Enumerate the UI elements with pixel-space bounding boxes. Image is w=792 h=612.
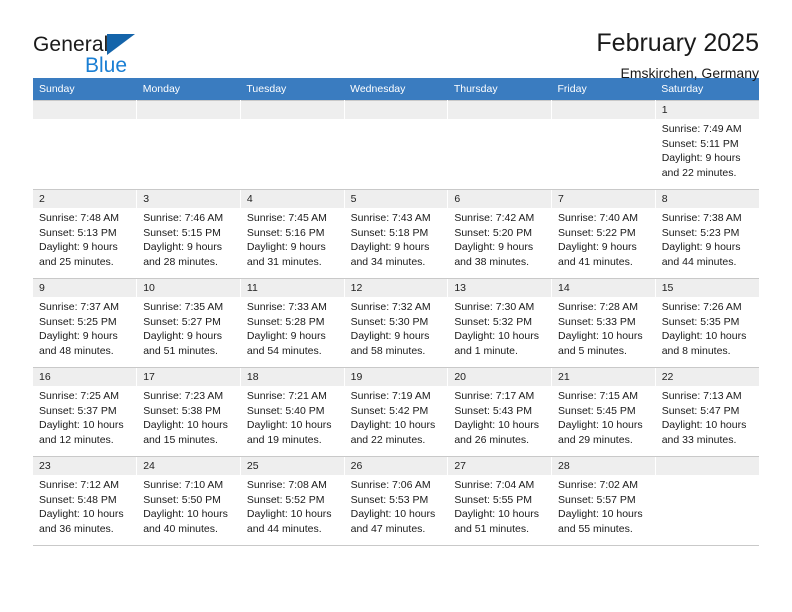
day-sun-details: Sunrise: 7:43 AMSunset: 5:18 PMDaylight:… <box>345 208 448 269</box>
detail-daylight1: Daylight: 10 hours <box>662 329 754 344</box>
calendar-week-row: 2Sunrise: 7:48 AMSunset: 5:13 PMDaylight… <box>33 190 759 279</box>
detail-daylight2: and 22 minutes. <box>662 166 754 181</box>
day-cell-inner <box>33 101 136 189</box>
detail-sunrise: Sunrise: 7:46 AM <box>143 211 235 226</box>
detail-daylight2: and 58 minutes. <box>351 344 443 359</box>
detail-daylight2: and 26 minutes. <box>454 433 546 448</box>
detail-sunset: Sunset: 5:57 PM <box>558 493 650 508</box>
calendar-day-cell[interactable]: 10Sunrise: 7:35 AMSunset: 5:27 PMDayligh… <box>137 279 241 368</box>
calendar-day-cell[interactable]: 27Sunrise: 7:04 AMSunset: 5:55 PMDayligh… <box>448 457 552 546</box>
detail-daylight2: and 33 minutes. <box>662 433 754 448</box>
day-number: 5 <box>345 190 448 208</box>
detail-sunrise: Sunrise: 7:15 AM <box>558 389 650 404</box>
detail-sunrise: Sunrise: 7:08 AM <box>247 478 339 493</box>
detail-daylight2: and 5 minutes. <box>558 344 650 359</box>
day-number <box>241 101 344 119</box>
detail-daylight1: Daylight: 9 hours <box>39 240 131 255</box>
day-number <box>448 101 551 119</box>
detail-daylight2: and 12 minutes. <box>39 433 131 448</box>
detail-daylight2: and 36 minutes. <box>39 522 131 537</box>
calendar-cell-empty <box>552 101 656 190</box>
day-sun-details: Sunrise: 7:30 AMSunset: 5:32 PMDaylight:… <box>448 297 551 358</box>
day-cell-inner: 8Sunrise: 7:38 AMSunset: 5:23 PMDaylight… <box>656 190 759 278</box>
detail-daylight2: and 40 minutes. <box>143 522 235 537</box>
detail-sunrise: Sunrise: 7:28 AM <box>558 300 650 315</box>
detail-daylight2: and 31 minutes. <box>247 255 339 270</box>
detail-sunset: Sunset: 5:43 PM <box>454 404 546 419</box>
calendar-day-cell[interactable]: 13Sunrise: 7:30 AMSunset: 5:32 PMDayligh… <box>448 279 552 368</box>
day-sun-details: Sunrise: 7:35 AMSunset: 5:27 PMDaylight:… <box>137 297 240 358</box>
day-sun-details: Sunrise: 7:10 AMSunset: 5:50 PMDaylight:… <box>137 475 240 536</box>
detail-sunrise: Sunrise: 7:37 AM <box>39 300 131 315</box>
day-cell-inner: 20Sunrise: 7:17 AMSunset: 5:43 PMDayligh… <box>448 368 551 456</box>
detail-sunrise: Sunrise: 7:32 AM <box>351 300 443 315</box>
day-cell-inner: 5Sunrise: 7:43 AMSunset: 5:18 PMDaylight… <box>345 190 448 278</box>
detail-daylight2: and 47 minutes. <box>351 522 443 537</box>
day-cell-inner <box>241 101 344 189</box>
day-sun-details: Sunrise: 7:19 AMSunset: 5:42 PMDaylight:… <box>345 386 448 447</box>
day-number: 22 <box>656 368 759 386</box>
calendar-day-cell[interactable]: 9Sunrise: 7:37 AMSunset: 5:25 PMDaylight… <box>33 279 137 368</box>
detail-daylight2: and 15 minutes. <box>143 433 235 448</box>
detail-sunrise: Sunrise: 7:38 AM <box>662 211 754 226</box>
calendar-day-cell[interactable]: 18Sunrise: 7:21 AMSunset: 5:40 PMDayligh… <box>240 368 344 457</box>
day-cell-inner <box>137 101 240 189</box>
day-number: 17 <box>137 368 240 386</box>
detail-sunrise: Sunrise: 7:17 AM <box>454 389 546 404</box>
day-sun-details: Sunrise: 7:37 AMSunset: 5:25 PMDaylight:… <box>33 297 136 358</box>
detail-sunrise: Sunrise: 7:30 AM <box>454 300 546 315</box>
calendar-day-cell[interactable]: 22Sunrise: 7:13 AMSunset: 5:47 PMDayligh… <box>655 368 759 457</box>
detail-daylight1: Daylight: 10 hours <box>558 329 650 344</box>
calendar-day-cell[interactable]: 12Sunrise: 7:32 AMSunset: 5:30 PMDayligh… <box>344 279 448 368</box>
detail-sunrise: Sunrise: 7:23 AM <box>143 389 235 404</box>
detail-sunset: Sunset: 5:45 PM <box>558 404 650 419</box>
day-number <box>345 101 448 119</box>
detail-sunset: Sunset: 5:28 PM <box>247 315 339 330</box>
detail-sunrise: Sunrise: 7:21 AM <box>247 389 339 404</box>
calendar-week-row: 23Sunrise: 7:12 AMSunset: 5:48 PMDayligh… <box>33 457 759 546</box>
day-number: 7 <box>552 190 655 208</box>
detail-sunrise: Sunrise: 7:33 AM <box>247 300 339 315</box>
detail-sunset: Sunset: 5:30 PM <box>351 315 443 330</box>
day-sun-details: Sunrise: 7:06 AMSunset: 5:53 PMDaylight:… <box>345 475 448 536</box>
calendar-day-cell[interactable]: 26Sunrise: 7:06 AMSunset: 5:53 PMDayligh… <box>344 457 448 546</box>
calendar-cell-empty <box>655 457 759 546</box>
detail-sunset: Sunset: 5:27 PM <box>143 315 235 330</box>
detail-sunrise: Sunrise: 7:42 AM <box>454 211 546 226</box>
detail-daylight1: Daylight: 9 hours <box>662 240 754 255</box>
calendar-day-cell[interactable]: 2Sunrise: 7:48 AMSunset: 5:13 PMDaylight… <box>33 190 137 279</box>
detail-daylight1: Daylight: 9 hours <box>247 329 339 344</box>
detail-sunset: Sunset: 5:35 PM <box>662 315 754 330</box>
day-cell-inner: 22Sunrise: 7:13 AMSunset: 5:47 PMDayligh… <box>656 368 759 456</box>
day-cell-inner: 25Sunrise: 7:08 AMSunset: 5:52 PMDayligh… <box>241 457 344 545</box>
day-sun-details: Sunrise: 7:23 AMSunset: 5:38 PMDaylight:… <box>137 386 240 447</box>
detail-sunrise: Sunrise: 7:43 AM <box>351 211 443 226</box>
weekday-header-monday: Monday <box>137 78 241 101</box>
calendar-day-cell[interactable]: 1Sunrise: 7:49 AMSunset: 5:11 PMDaylight… <box>655 101 759 190</box>
day-cell-inner: 16Sunrise: 7:25 AMSunset: 5:37 PMDayligh… <box>33 368 136 456</box>
detail-sunrise: Sunrise: 7:19 AM <box>351 389 443 404</box>
detail-daylight1: Daylight: 10 hours <box>558 507 650 522</box>
detail-sunrise: Sunrise: 7:04 AM <box>454 478 546 493</box>
detail-sunset: Sunset: 5:33 PM <box>558 315 650 330</box>
day-number: 24 <box>137 457 240 475</box>
calendar-day-cell[interactable]: 24Sunrise: 7:10 AMSunset: 5:50 PMDayligh… <box>137 457 241 546</box>
detail-sunset: Sunset: 5:48 PM <box>39 493 131 508</box>
day-sun-details: Sunrise: 7:13 AMSunset: 5:47 PMDaylight:… <box>656 386 759 447</box>
day-cell-inner: 21Sunrise: 7:15 AMSunset: 5:45 PMDayligh… <box>552 368 655 456</box>
detail-daylight2: and 19 minutes. <box>247 433 339 448</box>
page-header: General Blue February 2025 Emskirchen, G… <box>33 0 759 72</box>
calendar-week-row: 16Sunrise: 7:25 AMSunset: 5:37 PMDayligh… <box>33 368 759 457</box>
day-cell-inner <box>656 457 759 545</box>
detail-daylight2: and 1 minute. <box>454 344 546 359</box>
calendar-cell-empty <box>33 101 137 190</box>
day-number: 20 <box>448 368 551 386</box>
day-number: 16 <box>33 368 136 386</box>
day-number: 12 <box>345 279 448 297</box>
brand-name-general: General <box>33 35 108 55</box>
detail-sunset: Sunset: 5:22 PM <box>558 226 650 241</box>
detail-sunrise: Sunrise: 7:40 AM <box>558 211 650 226</box>
detail-sunrise: Sunrise: 7:02 AM <box>558 478 650 493</box>
day-number <box>137 101 240 119</box>
day-sun-details: Sunrise: 7:45 AMSunset: 5:16 PMDaylight:… <box>241 208 344 269</box>
calendar-cell-empty <box>137 101 241 190</box>
detail-daylight2: and 28 minutes. <box>143 255 235 270</box>
detail-daylight1: Daylight: 9 hours <box>247 240 339 255</box>
calendar-week-row: 1Sunrise: 7:49 AMSunset: 5:11 PMDaylight… <box>33 101 759 190</box>
detail-daylight1: Daylight: 10 hours <box>454 329 546 344</box>
detail-daylight1: Daylight: 10 hours <box>454 418 546 433</box>
day-sun-details: Sunrise: 7:40 AMSunset: 5:22 PMDaylight:… <box>552 208 655 269</box>
day-number: 13 <box>448 279 551 297</box>
calendar-cell-empty <box>240 101 344 190</box>
day-number: 11 <box>241 279 344 297</box>
day-number: 14 <box>552 279 655 297</box>
detail-daylight2: and 48 minutes. <box>39 344 131 359</box>
detail-daylight1: Daylight: 9 hours <box>454 240 546 255</box>
day-sun-details: Sunrise: 7:42 AMSunset: 5:20 PMDaylight:… <box>448 208 551 269</box>
day-sun-details: Sunrise: 7:33 AMSunset: 5:28 PMDaylight:… <box>241 297 344 358</box>
day-sun-details: Sunrise: 7:32 AMSunset: 5:30 PMDaylight:… <box>345 297 448 358</box>
detail-daylight1: Daylight: 9 hours <box>351 240 443 255</box>
detail-sunset: Sunset: 5:25 PM <box>39 315 131 330</box>
day-sun-details: Sunrise: 7:49 AMSunset: 5:11 PMDaylight:… <box>656 119 759 180</box>
detail-sunset: Sunset: 5:55 PM <box>454 493 546 508</box>
calendar-table: SundayMondayTuesdayWednesdayThursdayFrid… <box>33 78 759 546</box>
day-cell-inner: 3Sunrise: 7:46 AMSunset: 5:15 PMDaylight… <box>137 190 240 278</box>
day-number <box>33 101 136 119</box>
day-number: 10 <box>137 279 240 297</box>
day-number: 1 <box>656 101 759 119</box>
detail-sunrise: Sunrise: 7:25 AM <box>39 389 131 404</box>
detail-sunset: Sunset: 5:42 PM <box>351 404 443 419</box>
calendar-day-cell[interactable]: 11Sunrise: 7:33 AMSunset: 5:28 PMDayligh… <box>240 279 344 368</box>
day-number <box>552 101 655 119</box>
day-number: 27 <box>448 457 551 475</box>
triangle-icon <box>107 34 135 55</box>
day-sun-details: Sunrise: 7:04 AMSunset: 5:55 PMDaylight:… <box>448 475 551 536</box>
day-sun-details: Sunrise: 7:38 AMSunset: 5:23 PMDaylight:… <box>656 208 759 269</box>
day-cell-inner: 4Sunrise: 7:45 AMSunset: 5:16 PMDaylight… <box>241 190 344 278</box>
detail-daylight1: Daylight: 10 hours <box>247 507 339 522</box>
day-number: 23 <box>33 457 136 475</box>
detail-sunset: Sunset: 5:20 PM <box>454 226 546 241</box>
calendar-page: General Blue February 2025 Emskirchen, G… <box>0 0 792 612</box>
detail-sunrise: Sunrise: 7:48 AM <box>39 211 131 226</box>
detail-daylight1: Daylight: 9 hours <box>558 240 650 255</box>
day-cell-inner: 12Sunrise: 7:32 AMSunset: 5:30 PMDayligh… <box>345 279 448 367</box>
day-cell-inner: 7Sunrise: 7:40 AMSunset: 5:22 PMDaylight… <box>552 190 655 278</box>
detail-sunset: Sunset: 5:53 PM <box>351 493 443 508</box>
detail-daylight1: Daylight: 10 hours <box>558 418 650 433</box>
page-title: February 2025 <box>596 28 759 58</box>
calendar-day-cell[interactable]: 20Sunrise: 7:17 AMSunset: 5:43 PMDayligh… <box>448 368 552 457</box>
detail-sunset: Sunset: 5:40 PM <box>247 404 339 419</box>
detail-daylight1: Daylight: 10 hours <box>39 507 131 522</box>
day-sun-details: Sunrise: 7:46 AMSunset: 5:15 PMDaylight:… <box>137 208 240 269</box>
day-cell-inner: 24Sunrise: 7:10 AMSunset: 5:50 PMDayligh… <box>137 457 240 545</box>
day-number: 25 <box>241 457 344 475</box>
detail-daylight1: Daylight: 9 hours <box>662 151 754 166</box>
detail-daylight2: and 51 minutes. <box>143 344 235 359</box>
detail-sunrise: Sunrise: 7:26 AM <box>662 300 754 315</box>
detail-daylight2: and 44 minutes. <box>662 255 754 270</box>
detail-daylight2: and 51 minutes. <box>454 522 546 537</box>
calendar-day-cell[interactable]: 16Sunrise: 7:25 AMSunset: 5:37 PMDayligh… <box>33 368 137 457</box>
calendar-day-cell[interactable]: 6Sunrise: 7:42 AMSunset: 5:20 PMDaylight… <box>448 190 552 279</box>
detail-sunset: Sunset: 5:23 PM <box>662 226 754 241</box>
calendar-day-cell[interactable]: 25Sunrise: 7:08 AMSunset: 5:52 PMDayligh… <box>240 457 344 546</box>
detail-daylight2: and 55 minutes. <box>558 522 650 537</box>
detail-daylight2: and 34 minutes. <box>351 255 443 270</box>
day-cell-inner: 28Sunrise: 7:02 AMSunset: 5:57 PMDayligh… <box>552 457 655 545</box>
day-number: 2 <box>33 190 136 208</box>
day-number: 4 <box>241 190 344 208</box>
detail-daylight1: Daylight: 9 hours <box>143 240 235 255</box>
detail-sunrise: Sunrise: 7:13 AM <box>662 389 754 404</box>
day-number: 9 <box>33 279 136 297</box>
detail-sunrise: Sunrise: 7:35 AM <box>143 300 235 315</box>
day-sun-details: Sunrise: 7:12 AMSunset: 5:48 PMDaylight:… <box>33 475 136 536</box>
day-cell-inner: 27Sunrise: 7:04 AMSunset: 5:55 PMDayligh… <box>448 457 551 545</box>
detail-sunrise: Sunrise: 7:06 AM <box>351 478 443 493</box>
detail-daylight2: and 38 minutes. <box>454 255 546 270</box>
detail-sunset: Sunset: 5:15 PM <box>143 226 235 241</box>
day-number: 26 <box>345 457 448 475</box>
detail-daylight1: Daylight: 10 hours <box>143 507 235 522</box>
day-cell-inner <box>345 101 448 189</box>
calendar-day-cell[interactable]: 7Sunrise: 7:40 AMSunset: 5:22 PMDaylight… <box>552 190 656 279</box>
day-number: 15 <box>656 279 759 297</box>
day-sun-details: Sunrise: 7:08 AMSunset: 5:52 PMDaylight:… <box>241 475 344 536</box>
detail-sunset: Sunset: 5:52 PM <box>247 493 339 508</box>
day-number: 6 <box>448 190 551 208</box>
calendar-day-cell[interactable]: 23Sunrise: 7:12 AMSunset: 5:48 PMDayligh… <box>33 457 137 546</box>
detail-daylight2: and 8 minutes. <box>662 344 754 359</box>
calendar-day-cell[interactable]: 28Sunrise: 7:02 AMSunset: 5:57 PMDayligh… <box>552 457 656 546</box>
calendar-day-cell[interactable]: 4Sunrise: 7:45 AMSunset: 5:16 PMDaylight… <box>240 190 344 279</box>
detail-daylight1: Daylight: 10 hours <box>247 418 339 433</box>
calendar-cell-empty <box>344 101 448 190</box>
calendar-cell-empty <box>448 101 552 190</box>
day-number: 18 <box>241 368 344 386</box>
detail-daylight2: and 25 minutes. <box>39 255 131 270</box>
day-cell-inner: 17Sunrise: 7:23 AMSunset: 5:38 PMDayligh… <box>137 368 240 456</box>
detail-sunrise: Sunrise: 7:10 AM <box>143 478 235 493</box>
day-cell-inner <box>448 101 551 189</box>
detail-daylight1: Daylight: 9 hours <box>351 329 443 344</box>
day-cell-inner: 6Sunrise: 7:42 AMSunset: 5:20 PMDaylight… <box>448 190 551 278</box>
day-sun-details: Sunrise: 7:02 AMSunset: 5:57 PMDaylight:… <box>552 475 655 536</box>
calendar-day-cell[interactable]: 19Sunrise: 7:19 AMSunset: 5:42 PMDayligh… <box>344 368 448 457</box>
calendar-day-cell[interactable]: 3Sunrise: 7:46 AMSunset: 5:15 PMDaylight… <box>137 190 241 279</box>
detail-sunset: Sunset: 5:50 PM <box>143 493 235 508</box>
detail-daylight1: Daylight: 9 hours <box>39 329 131 344</box>
day-cell-inner: 9Sunrise: 7:37 AMSunset: 5:25 PMDaylight… <box>33 279 136 367</box>
brand-logo-top: General <box>33 34 135 55</box>
day-number: 28 <box>552 457 655 475</box>
calendar-day-cell[interactable]: 15Sunrise: 7:26 AMSunset: 5:35 PMDayligh… <box>655 279 759 368</box>
calendar-day-cell[interactable]: 17Sunrise: 7:23 AMSunset: 5:38 PMDayligh… <box>137 368 241 457</box>
calendar-body: 1Sunrise: 7:49 AMSunset: 5:11 PMDaylight… <box>33 101 759 546</box>
calendar-day-cell[interactable]: 14Sunrise: 7:28 AMSunset: 5:33 PMDayligh… <box>552 279 656 368</box>
day-number: 3 <box>137 190 240 208</box>
day-number: 8 <box>656 190 759 208</box>
detail-daylight1: Daylight: 10 hours <box>351 418 443 433</box>
detail-daylight2: and 22 minutes. <box>351 433 443 448</box>
day-cell-inner: 10Sunrise: 7:35 AMSunset: 5:27 PMDayligh… <box>137 279 240 367</box>
day-cell-inner: 15Sunrise: 7:26 AMSunset: 5:35 PMDayligh… <box>656 279 759 367</box>
detail-daylight2: and 44 minutes. <box>247 522 339 537</box>
detail-sunset: Sunset: 5:13 PM <box>39 226 131 241</box>
day-cell-inner: 23Sunrise: 7:12 AMSunset: 5:48 PMDayligh… <box>33 457 136 545</box>
day-cell-inner: 19Sunrise: 7:19 AMSunset: 5:42 PMDayligh… <box>345 368 448 456</box>
day-sun-details: Sunrise: 7:17 AMSunset: 5:43 PMDaylight:… <box>448 386 551 447</box>
detail-daylight1: Daylight: 10 hours <box>662 418 754 433</box>
detail-daylight1: Daylight: 10 hours <box>39 418 131 433</box>
weekday-header-sunday: Sunday <box>33 78 137 101</box>
day-cell-inner: 1Sunrise: 7:49 AMSunset: 5:11 PMDaylight… <box>656 101 759 189</box>
weekday-header-thursday: Thursday <box>448 78 552 101</box>
detail-daylight1: Daylight: 10 hours <box>143 418 235 433</box>
detail-sunrise: Sunrise: 7:12 AM <box>39 478 131 493</box>
detail-daylight1: Daylight: 9 hours <box>143 329 235 344</box>
calendar-day-cell[interactable]: 8Sunrise: 7:38 AMSunset: 5:23 PMDaylight… <box>655 190 759 279</box>
detail-sunrise: Sunrise: 7:45 AM <box>247 211 339 226</box>
weekday-header-tuesday: Tuesday <box>240 78 344 101</box>
calendar-day-cell[interactable]: 5Sunrise: 7:43 AMSunset: 5:18 PMDaylight… <box>344 190 448 279</box>
page-subtitle-location: Emskirchen, Germany <box>596 63 759 83</box>
day-number: 19 <box>345 368 448 386</box>
detail-sunset: Sunset: 5:47 PM <box>662 404 754 419</box>
day-sun-details: Sunrise: 7:26 AMSunset: 5:35 PMDaylight:… <box>656 297 759 358</box>
day-cell-inner: 26Sunrise: 7:06 AMSunset: 5:53 PMDayligh… <box>345 457 448 545</box>
weekday-header-wednesday: Wednesday <box>344 78 448 101</box>
day-cell-inner <box>552 101 655 189</box>
day-cell-inner: 18Sunrise: 7:21 AMSunset: 5:40 PMDayligh… <box>241 368 344 456</box>
day-cell-inner: 11Sunrise: 7:33 AMSunset: 5:28 PMDayligh… <box>241 279 344 367</box>
calendar-day-cell[interactable]: 21Sunrise: 7:15 AMSunset: 5:45 PMDayligh… <box>552 368 656 457</box>
calendar-week-row: 9Sunrise: 7:37 AMSunset: 5:25 PMDaylight… <box>33 279 759 368</box>
detail-sunset: Sunset: 5:18 PM <box>351 226 443 241</box>
day-sun-details: Sunrise: 7:25 AMSunset: 5:37 PMDaylight:… <box>33 386 136 447</box>
day-sun-details: Sunrise: 7:28 AMSunset: 5:33 PMDaylight:… <box>552 297 655 358</box>
detail-daylight1: Daylight: 10 hours <box>351 507 443 522</box>
day-cell-inner: 14Sunrise: 7:28 AMSunset: 5:33 PMDayligh… <box>552 279 655 367</box>
detail-sunrise: Sunrise: 7:49 AM <box>662 122 754 137</box>
detail-sunset: Sunset: 5:37 PM <box>39 404 131 419</box>
day-number <box>656 457 759 475</box>
title-block: February 2025 Emskirchen, Germany <box>596 26 759 83</box>
brand-name-blue: Blue <box>85 56 135 76</box>
detail-sunset: Sunset: 5:16 PM <box>247 226 339 241</box>
day-sun-details: Sunrise: 7:48 AMSunset: 5:13 PMDaylight:… <box>33 208 136 269</box>
day-number: 21 <box>552 368 655 386</box>
detail-daylight2: and 41 minutes. <box>558 255 650 270</box>
detail-daylight2: and 29 minutes. <box>558 433 650 448</box>
detail-daylight2: and 54 minutes. <box>247 344 339 359</box>
day-sun-details: Sunrise: 7:15 AMSunset: 5:45 PMDaylight:… <box>552 386 655 447</box>
day-sun-details: Sunrise: 7:21 AMSunset: 5:40 PMDaylight:… <box>241 386 344 447</box>
detail-sunset: Sunset: 5:11 PM <box>662 137 754 152</box>
detail-daylight1: Daylight: 10 hours <box>454 507 546 522</box>
day-cell-inner: 13Sunrise: 7:30 AMSunset: 5:32 PMDayligh… <box>448 279 551 367</box>
day-cell-inner: 2Sunrise: 7:48 AMSunset: 5:13 PMDaylight… <box>33 190 136 278</box>
brand-logo: General Blue <box>33 26 135 76</box>
detail-sunset: Sunset: 5:32 PM <box>454 315 546 330</box>
detail-sunset: Sunset: 5:38 PM <box>143 404 235 419</box>
